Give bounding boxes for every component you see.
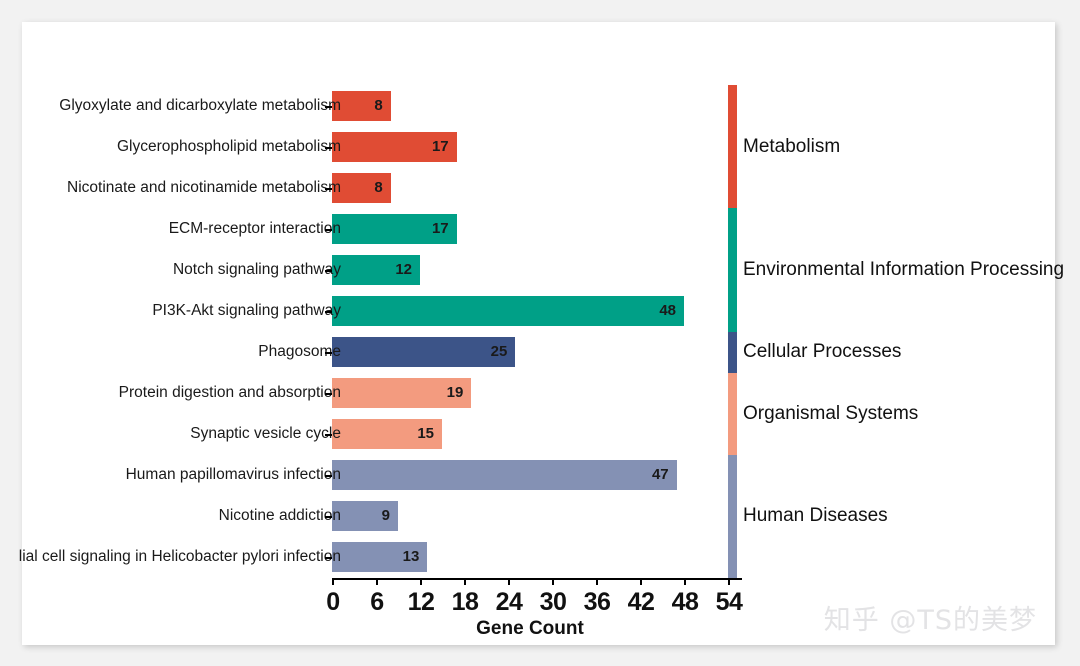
x-axis-tick [376, 578, 378, 585]
category-label: ECM-receptor interaction [169, 214, 341, 244]
x-axis-title: Gene Count [332, 618, 728, 640]
x-axis-tick-label: 54 [699, 588, 759, 617]
bar-value-label: 13 [403, 542, 420, 572]
y-axis-tick [325, 352, 332, 354]
chart-card: 817817124825191547913 Glyoxylate and dic… [22, 22, 1055, 645]
x-axis-tick [640, 578, 642, 585]
watermark: 知乎 @TS的美梦 [824, 598, 1037, 637]
legend-label: Metabolism [743, 136, 840, 158]
bar-value-label: 17 [432, 132, 449, 162]
bar-value-label: 19 [447, 378, 464, 408]
bar-row: 13 [332, 542, 728, 572]
y-axis-tick [325, 106, 332, 108]
legend-color-segment[interactable] [728, 332, 737, 373]
x-axis-tick [464, 578, 466, 585]
bar-value-label: 48 [659, 296, 676, 326]
bar-row: 15 [332, 419, 728, 449]
bar-value-label: 17 [432, 214, 449, 244]
legend-label: Organismal Systems [743, 403, 918, 425]
y-axis-tick [325, 147, 332, 149]
legend-label: Cellular Processes [743, 341, 901, 363]
x-axis-line [332, 578, 742, 580]
y-axis-tick [325, 393, 332, 395]
x-axis-tick [508, 578, 510, 585]
bar-row: 12 [332, 255, 728, 285]
bar[interactable] [332, 460, 677, 490]
category-label: Glycerophospholipid metabolism [117, 132, 341, 162]
category-label: Synaptic vesicle cycle [190, 419, 341, 449]
bar-row: 17 [332, 132, 728, 162]
bar-row: 8 [332, 173, 728, 203]
bar-value-label: 8 [374, 91, 382, 121]
category-label: Nicotine addiction [219, 501, 341, 531]
bar-value-label: 8 [374, 173, 382, 203]
x-axis-tick [596, 578, 598, 585]
y-axis-tick [325, 516, 332, 518]
legend-color-segment[interactable] [728, 455, 737, 578]
y-axis-tick [325, 188, 332, 190]
category-label: Human papillomavirus infection [126, 460, 341, 490]
bar-row: 19 [332, 378, 728, 408]
bar-value-label: 47 [652, 460, 669, 490]
category-label: Glyoxylate and dicarboxylate metabolism [59, 91, 341, 121]
y-axis-tick [325, 434, 332, 436]
category-label: Nicotinate and nicotinamide metabolism [67, 173, 341, 203]
bar[interactable] [332, 296, 684, 326]
category-label: Protein digestion and absorption [119, 378, 341, 408]
y-axis-tick [325, 270, 332, 272]
legend-color-strip [728, 85, 737, 578]
legend-color-segment[interactable] [728, 208, 737, 331]
bar-row: 47 [332, 460, 728, 490]
screenshot-root: 817817124825191547913 Glyoxylate and dic… [0, 0, 1080, 666]
legend-label: Environmental Information Processing [743, 259, 1064, 281]
bar-value-label: 12 [395, 255, 412, 285]
y-axis-tick [325, 229, 332, 231]
bar-value-label: 15 [417, 419, 434, 449]
bar-row: 48 [332, 296, 728, 326]
legend-color-segment[interactable] [728, 85, 737, 208]
x-axis-tick [684, 578, 686, 585]
bar-value-label: 9 [382, 501, 390, 531]
legend-label: Human Diseases [743, 505, 888, 527]
bar-row: 25 [332, 337, 728, 367]
bar-row: 8 [332, 91, 728, 121]
kegg-enrichment-bar-chart: 817817124825191547913 Glyoxylate and dic… [22, 22, 1055, 645]
x-axis-tick [332, 578, 334, 585]
category-label: Notch signaling pathway [173, 255, 341, 285]
x-axis-tick [552, 578, 554, 585]
y-axis-tick [325, 475, 332, 477]
x-axis-tick [728, 578, 730, 585]
category-label: lial cell signaling in Helicobacter pylo… [19, 542, 341, 572]
bar[interactable] [332, 337, 515, 367]
bar-row: 9 [332, 501, 728, 531]
bar-row: 17 [332, 214, 728, 244]
category-label: PI3K-Akt signaling pathway [152, 296, 341, 326]
y-axis-tick [325, 557, 332, 559]
bar-value-label: 25 [491, 337, 508, 367]
x-axis-tick [420, 578, 422, 585]
legend-color-segment[interactable] [728, 373, 737, 455]
y-axis-tick [325, 311, 332, 313]
